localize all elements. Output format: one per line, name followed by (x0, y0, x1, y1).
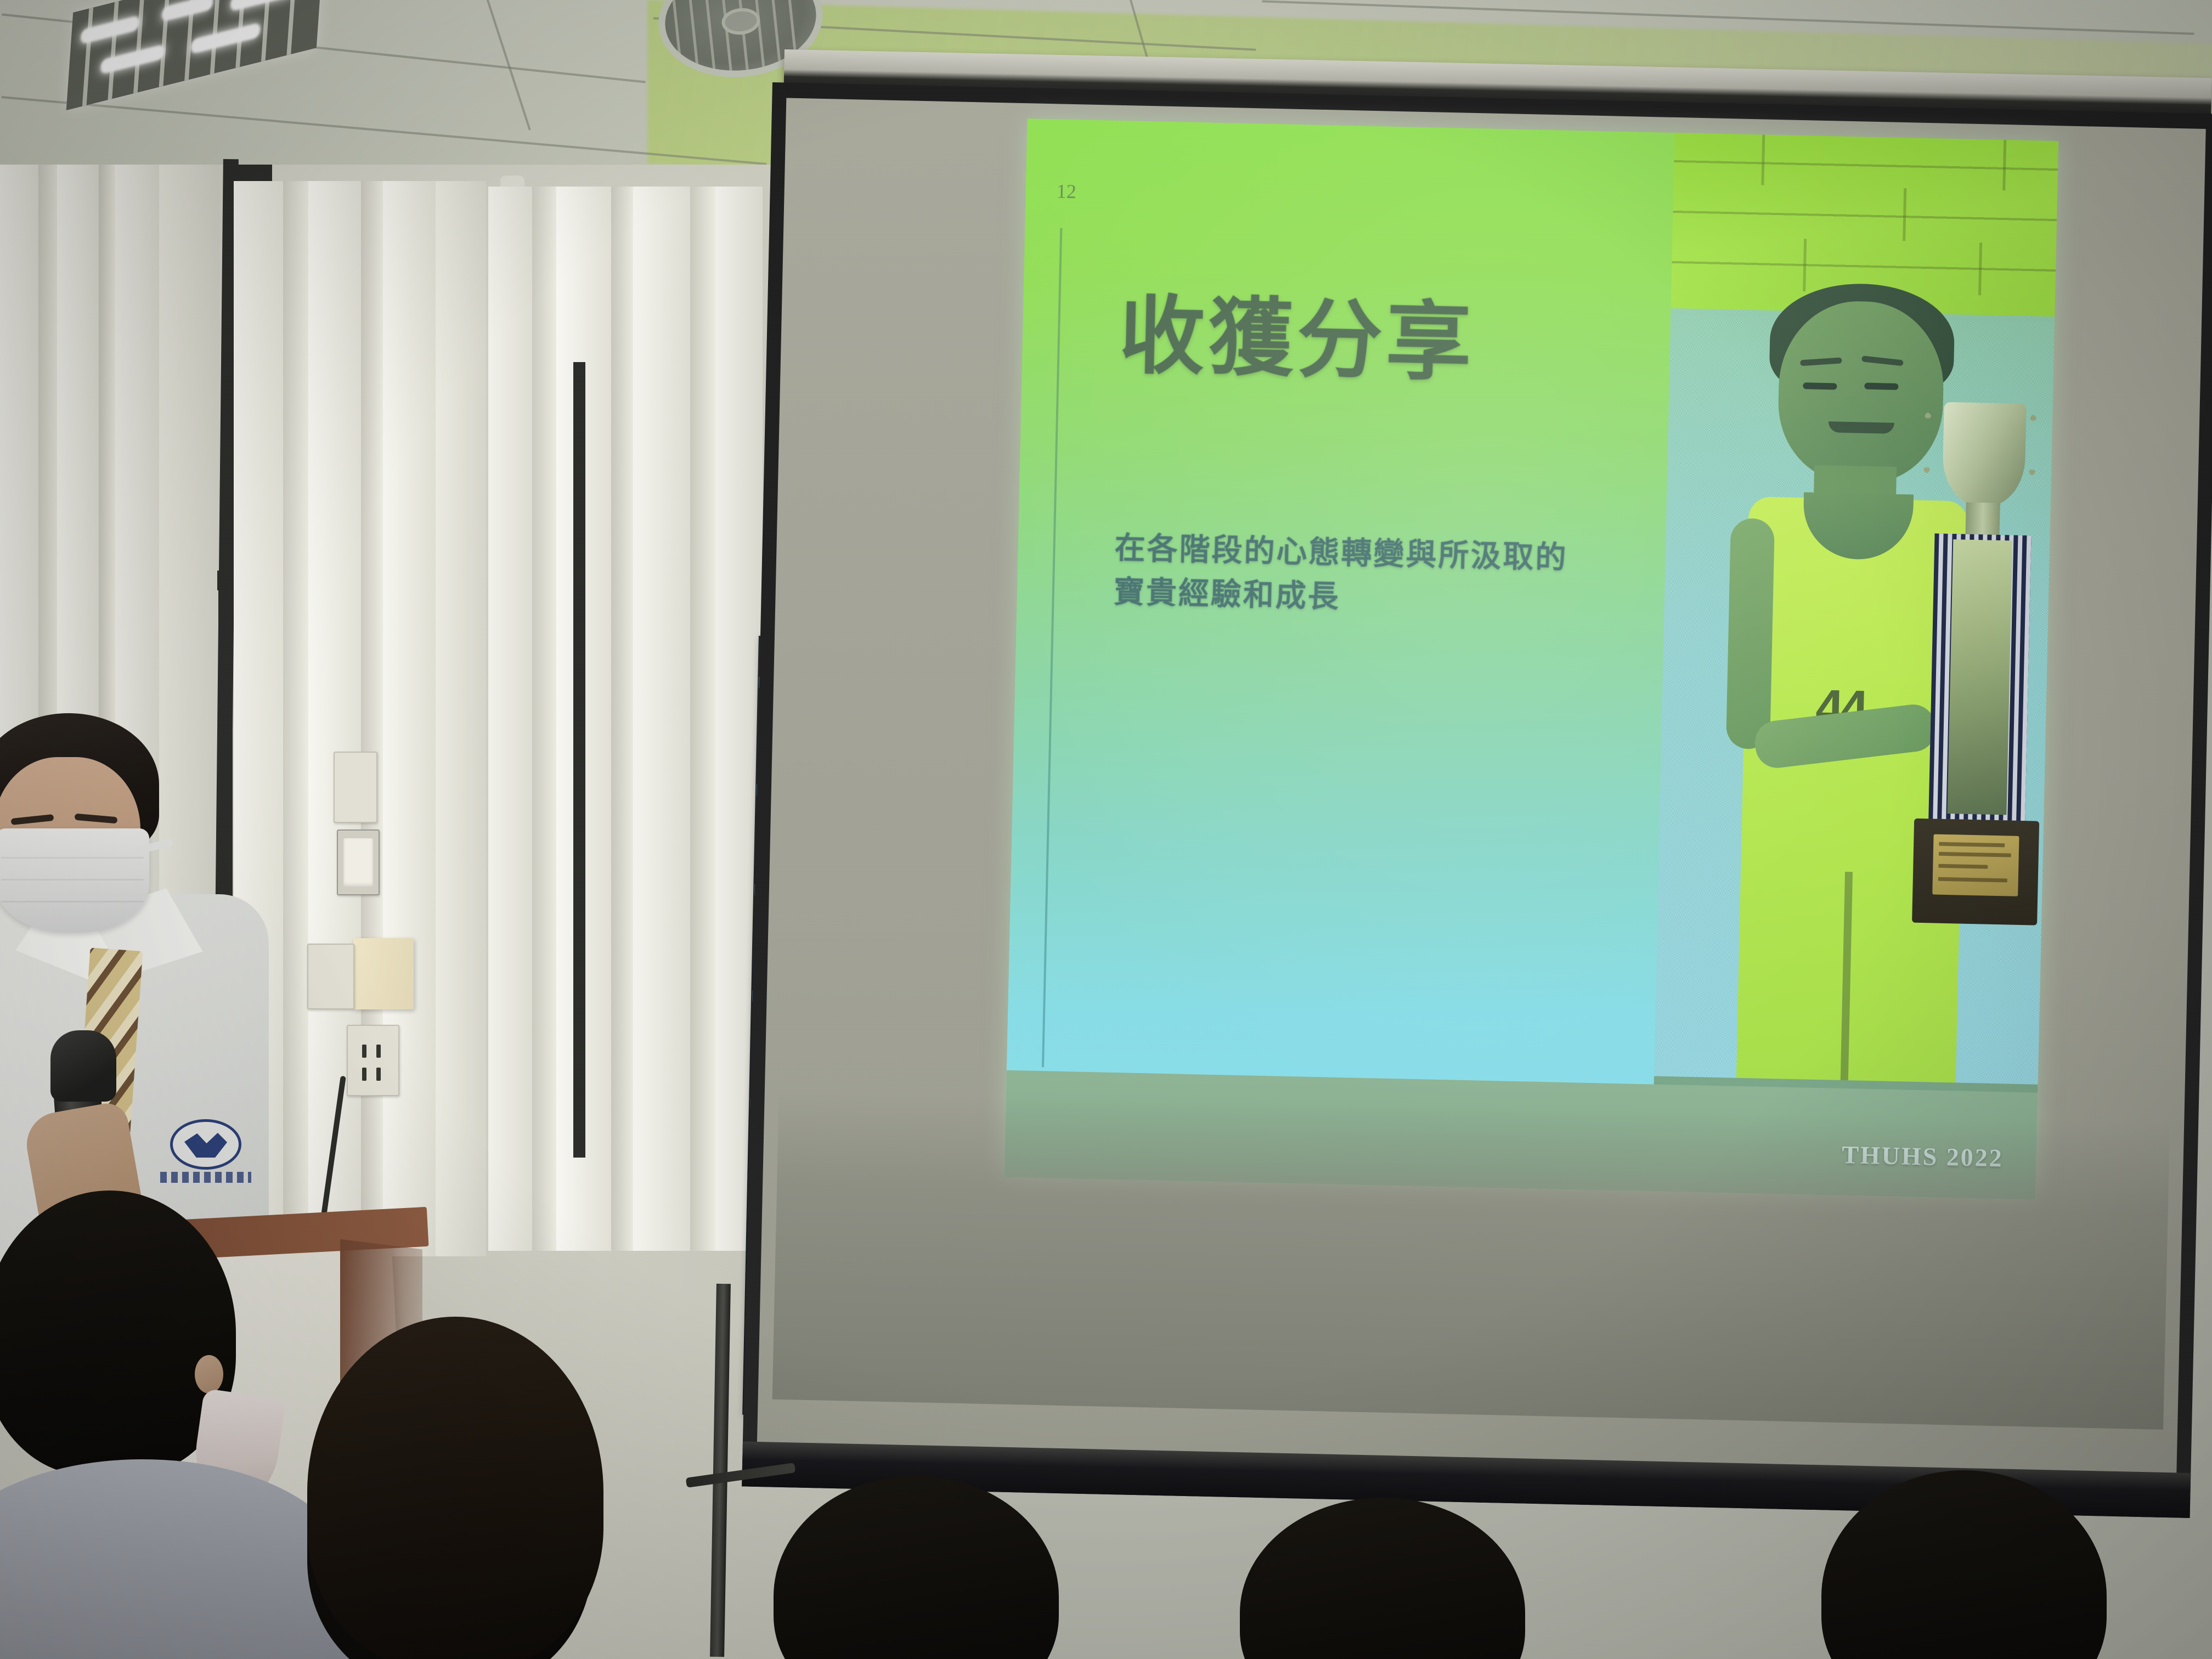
slide-accent-line (1042, 228, 1062, 1068)
screen-canvas: 12 收獲分享 在各階段的心態轉變與所汲取的寶貴經驗和成長 (757, 98, 2206, 1474)
classroom-presentation-photo: 1 9 17 25 33 41 49 12 收獲分享 在各階段的心態轉變與所汲取… (0, 0, 2212, 1659)
wall-thermostat-box[interactable] (353, 938, 414, 1009)
audience-head-center-left (307, 1317, 603, 1659)
slide-number: 12 (1056, 179, 1076, 203)
screen-lower-shadow (772, 1092, 2170, 1430)
light-switch-plate[interactable] (337, 830, 380, 895)
window-frame-right (573, 362, 585, 1158)
presenter-face-mask (0, 828, 149, 933)
photo-subject-arm-left (1726, 518, 1775, 749)
microphone-head (50, 1030, 116, 1102)
school-crest-badge (170, 1119, 241, 1170)
projected-slide: 12 收獲分享 在各階段的心態轉變與所汲取的寶貴經驗和成長 (1005, 119, 2059, 1200)
photo-trophy (1904, 402, 2053, 964)
power-outlet[interactable] (347, 1025, 399, 1096)
photo-subject-smile (1829, 421, 1894, 434)
wall-control-box[interactable] (334, 752, 377, 823)
slide-photo: 44 (1654, 133, 2058, 1096)
audience-ear (195, 1355, 223, 1393)
curtain-center-right (488, 187, 763, 1251)
slide-title: 收獲分享 (1118, 291, 1475, 388)
projection-screen: 12 收獲分享 在各階段的心態轉變與所汲取的寶貴經驗和成長 (742, 82, 2212, 1518)
slide-subtitle: 在各階段的心態轉變與所汲取的寶貴經驗和成長 (1113, 527, 1587, 624)
audience-head-center-right (1240, 1498, 1525, 1659)
